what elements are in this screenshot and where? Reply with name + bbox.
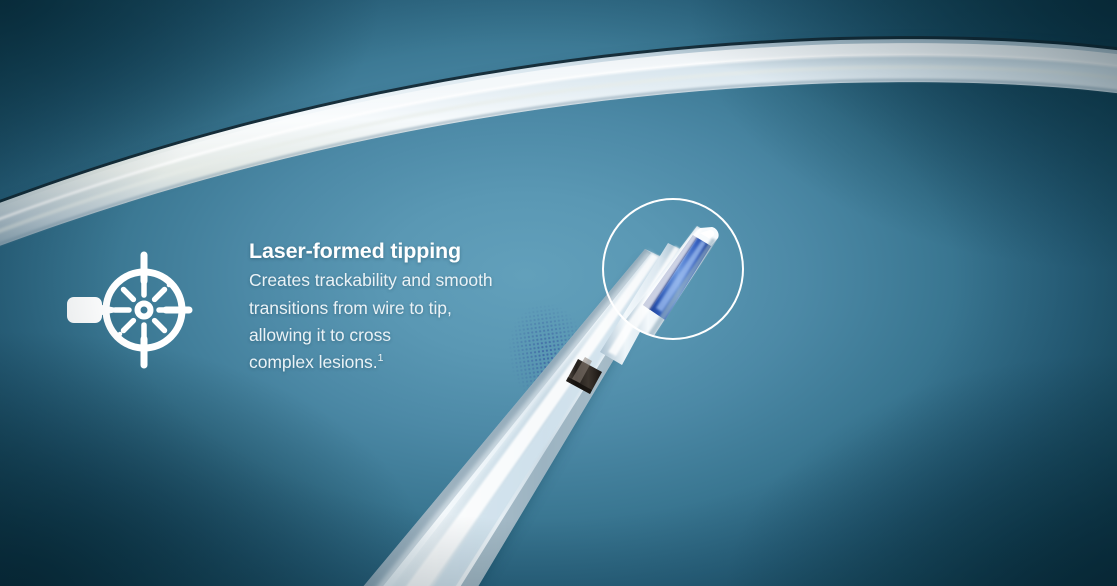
feature-callout-graphic: Laser-formed tipping Creates trackabilit… — [0, 0, 1117, 586]
vignette-overlay — [0, 0, 1117, 586]
